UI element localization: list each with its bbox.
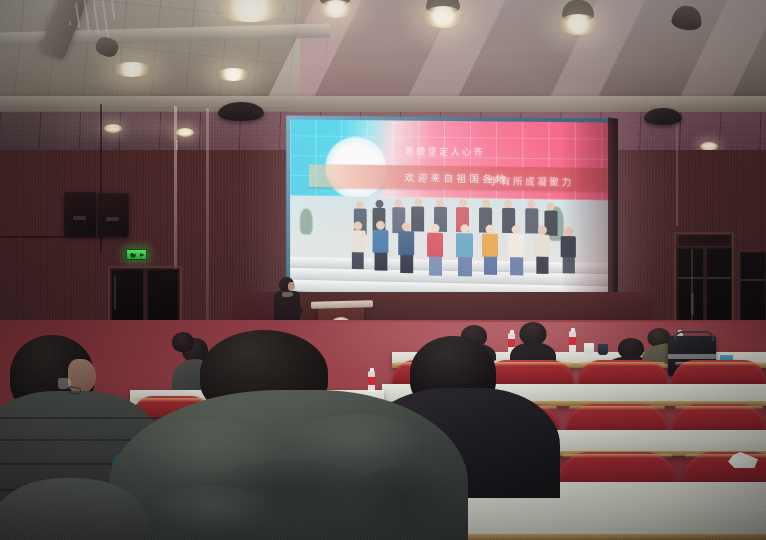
projector-pod-icon — [644, 108, 682, 125]
slide-student-torso — [561, 236, 576, 257]
slide-shrub — [300, 209, 313, 235]
slide-student-legs — [458, 257, 472, 276]
slide-student-head — [564, 227, 573, 236]
downlight-icon — [216, 68, 250, 81]
slide-student-head — [460, 224, 469, 233]
door-mullion — [741, 279, 765, 281]
slide-student-head — [436, 199, 444, 207]
seat[interactable] — [578, 360, 668, 386]
seat[interactable] — [672, 360, 766, 386]
loudspeaker-icon — [97, 193, 129, 237]
slide-student-legs — [400, 255, 413, 273]
fabric-fold — [148, 486, 278, 536]
paper-cup — [584, 343, 594, 354]
left-door-panel[interactable] — [111, 269, 144, 321]
slide-student-torso — [427, 232, 443, 256]
slide-student-head — [431, 224, 440, 233]
person-hood-and-shoulders — [108, 390, 468, 540]
slide-student-head — [459, 200, 467, 208]
water-bottle — [569, 331, 576, 352]
seat[interactable] — [682, 452, 766, 486]
slide-student — [398, 222, 414, 273]
foreground-fleece-hoodie-person — [108, 330, 468, 540]
door-mullion — [707, 277, 731, 279]
slide-student-torso — [373, 230, 389, 253]
projector-pod-icon — [218, 102, 264, 121]
wall-highlight — [120, 112, 210, 142]
slide-student-legs — [536, 257, 548, 274]
slide-student-legs — [374, 253, 387, 271]
auditorium-photo: 思想坚定人心齐 欢迎来自祖国各地 学有所成凝聚力 — [0, 0, 766, 540]
left-door-panel[interactable] — [147, 269, 179, 321]
door-glass — [691, 293, 694, 315]
slide-right-text: 学有所成凝聚力 — [489, 174, 574, 189]
slide-student-torso — [535, 235, 550, 257]
slide-student-head — [512, 225, 521, 234]
paper-cup — [598, 344, 608, 355]
led-screen: 思想坚定人心齐 欢迎来自祖国各地 学有所成凝聚力 — [286, 115, 617, 302]
slide-student-head — [375, 200, 383, 208]
wall-panel-seam — [0, 236, 104, 238]
slide-student-head — [538, 226, 547, 235]
slide-student-legs — [510, 257, 523, 275]
slide-student-head — [527, 201, 535, 209]
slide-student-head — [504, 200, 512, 208]
slide-student-head — [356, 200, 364, 208]
slide-student-head — [353, 221, 362, 230]
slide-student-torso — [350, 230, 365, 252]
slide-student — [561, 227, 576, 274]
slide-student — [350, 221, 365, 269]
slide-student-torso — [508, 234, 524, 257]
slide-student-head — [414, 199, 422, 207]
downlight-icon — [112, 62, 152, 77]
bag-trim — [668, 354, 716, 359]
slide-student — [456, 224, 473, 276]
slide-student — [535, 226, 550, 275]
slide-student-head — [547, 203, 555, 211]
podium-top-surface — [311, 300, 373, 309]
slide-student — [482, 225, 498, 275]
slide-student-head — [402, 222, 411, 231]
slide-student-head — [482, 200, 490, 208]
screen-display: 思想坚定人心齐 欢迎来自祖国各地 学有所成凝聚力 — [290, 119, 613, 298]
slide-student — [508, 225, 524, 276]
slide-top-text: 思想坚定人心齐 — [405, 145, 485, 159]
slide-student-torso — [398, 231, 414, 255]
slide-student-head — [376, 221, 385, 230]
presenter-face — [288, 282, 295, 291]
slide-student-head — [394, 199, 402, 207]
slide-student — [427, 223, 443, 275]
slide-student-legs — [429, 256, 442, 275]
downlight-icon — [318, 0, 354, 18]
slide-student-torso — [456, 233, 473, 257]
fabric-fold — [348, 466, 458, 536]
downlight-icon — [558, 14, 598, 35]
seat[interactable] — [558, 452, 676, 486]
downlight-icon — [422, 6, 464, 28]
exit-sign — [126, 249, 147, 260]
door-glass — [114, 276, 116, 310]
slide-student-legs — [562, 257, 574, 273]
door-mullion — [678, 277, 703, 279]
slide-student — [373, 221, 389, 271]
screen-right-bezel-shadow — [608, 117, 618, 307]
loudspeaker-icon — [64, 192, 96, 236]
wall-panel-seam — [676, 120, 678, 226]
slide-student-torso — [482, 234, 498, 257]
slide-student-legs — [352, 252, 364, 269]
slide-student-head — [486, 225, 495, 234]
slide-student-legs — [484, 257, 497, 275]
door-transom — [677, 234, 732, 247]
